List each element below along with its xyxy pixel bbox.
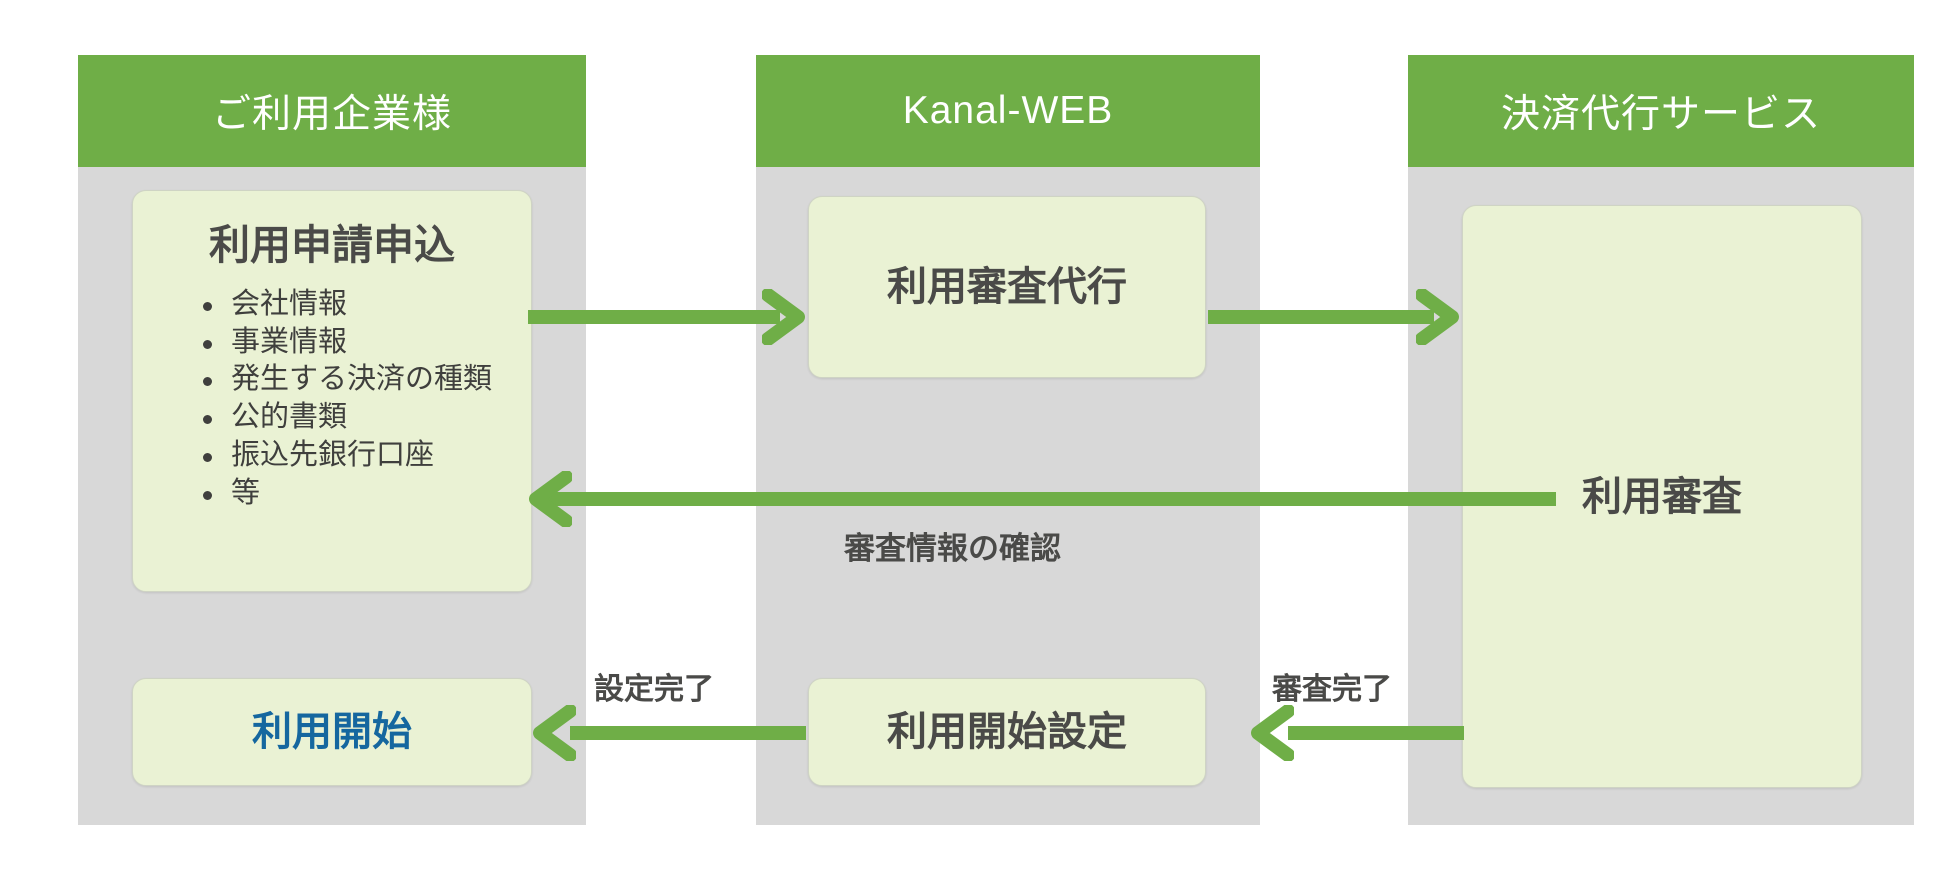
arrow-right-icon [762, 289, 806, 345]
list-item: 事業情報 [201, 324, 511, 362]
arrow-left-icon [532, 705, 576, 761]
swimlane-header-payment-service: 決済代行サービス [1408, 55, 1914, 167]
application-requirement-list: 会社情報 事業情報 発生する決済の種類 公的書類 振込先銀行口座 等 [153, 286, 511, 512]
process-flow-diagram: ご利用企業様 Kanal-WEB 決済代行サービス 利用申請申込 会社情報 事業… [0, 0, 1950, 886]
arrow-left-icon [528, 471, 572, 527]
arrow-kanal-to-payment-shaft [1208, 310, 1434, 324]
arrow-right-icon [1416, 289, 1460, 345]
list-item: 振込先銀行口座 [201, 437, 511, 475]
arrow-label-review-info: 審査情報の確認 [844, 523, 1061, 568]
swimlane-header-customer: ご利用企業様 [78, 55, 586, 167]
card-screening-agency-title: 利用審査代行 [887, 265, 1127, 309]
card-service-start-setup: 利用開始設定 [808, 678, 1206, 786]
arrow-screening-to-setup-shaft [1288, 726, 1464, 740]
card-application-title: 利用申請申込 [153, 223, 511, 268]
card-service-start-setup-title: 利用開始設定 [887, 710, 1127, 754]
list-item: 公的書類 [201, 399, 511, 437]
card-application: 利用申請申込 会社情報 事業情報 発生する決済の種類 公的書類 振込先銀行口座 … [132, 190, 532, 592]
arrow-label-review-done: 審査完了 [1272, 664, 1392, 708]
arrow-label-setup-done: 設定完了 [594, 664, 714, 708]
arrow-setup-to-start-shaft [570, 726, 806, 740]
list-item: 等 [201, 475, 511, 513]
arrow-left-icon [1250, 705, 1294, 761]
card-screening-title: 利用審査 [1582, 475, 1742, 519]
swimlane-header-kanal-web: Kanal-WEB [756, 55, 1260, 167]
list-item: 会社情報 [201, 286, 511, 324]
arrow-payment-to-application-shaft [546, 492, 1556, 506]
card-screening-agency: 利用審査代行 [808, 196, 1206, 378]
arrow-application-to-kanal-shaft [528, 310, 780, 324]
card-service-start-title: 利用開始 [252, 710, 412, 754]
list-item: 発生する決済の種類 [201, 361, 511, 399]
card-service-start: 利用開始 [132, 678, 532, 786]
